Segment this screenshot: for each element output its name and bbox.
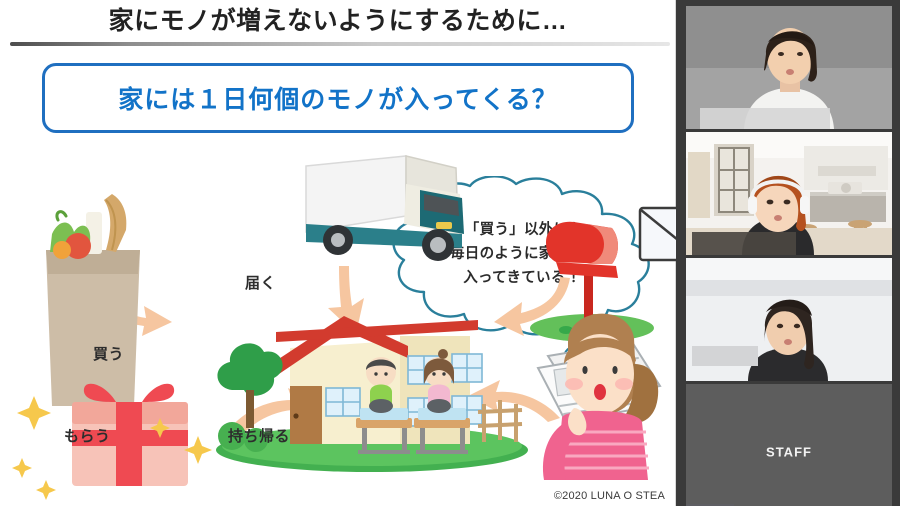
envelope-icon (640, 208, 676, 260)
grocery-bag-icon (46, 194, 140, 406)
copyright-notice: ©2020 LUNA O STEA (554, 490, 665, 502)
participant-tile-2[interactable] (686, 132, 892, 255)
slide-title: 家にモノが増えないようにするために… (0, 4, 676, 38)
participant-tile-3[interactable] (686, 258, 892, 381)
screen-share-window: 家にモノが増えないようにするために… 家には１日何個のモノが入ってくる？ 「買う… (0, 0, 900, 506)
label-deliver: 届く (245, 272, 276, 293)
gift-box-icon (12, 384, 212, 500)
question-text: 家には１日何個のモノが入ってくる？ (118, 80, 558, 116)
title-divider (10, 42, 670, 46)
video-feed-1 (686, 6, 892, 129)
label-receive: もらう (64, 425, 111, 446)
presentation-slide: 家にモノが増えないようにするために… 家には１日何個のモノが入ってくる？ 「買う… (0, 0, 676, 506)
label-buy: 買う (93, 343, 124, 364)
shared-slide-area[interactable]: 家にモノが増えないようにするために… 家には１日何個のモノが入ってくる？ 「買う… (0, 0, 676, 506)
label-bring-home: 持ち帰る (228, 425, 290, 446)
video-feed-3 (686, 258, 892, 381)
placeholder-display-name: STAFF (686, 444, 892, 459)
illustration-svg (0, 150, 676, 506)
participant-tile-4[interactable]: STAFF STAFF (686, 384, 892, 506)
cycle-illustration: 買う 届く もらう 持ち帰る (0, 150, 676, 506)
participant-video-rail: STAFF STAFF (676, 0, 900, 506)
delivery-truck-icon (306, 156, 464, 261)
video-feed-2 (686, 132, 892, 255)
question-callout-box: 家には１日何個のモノが入ってくる？ (42, 63, 634, 133)
participant-tile-1[interactable] (686, 6, 892, 129)
